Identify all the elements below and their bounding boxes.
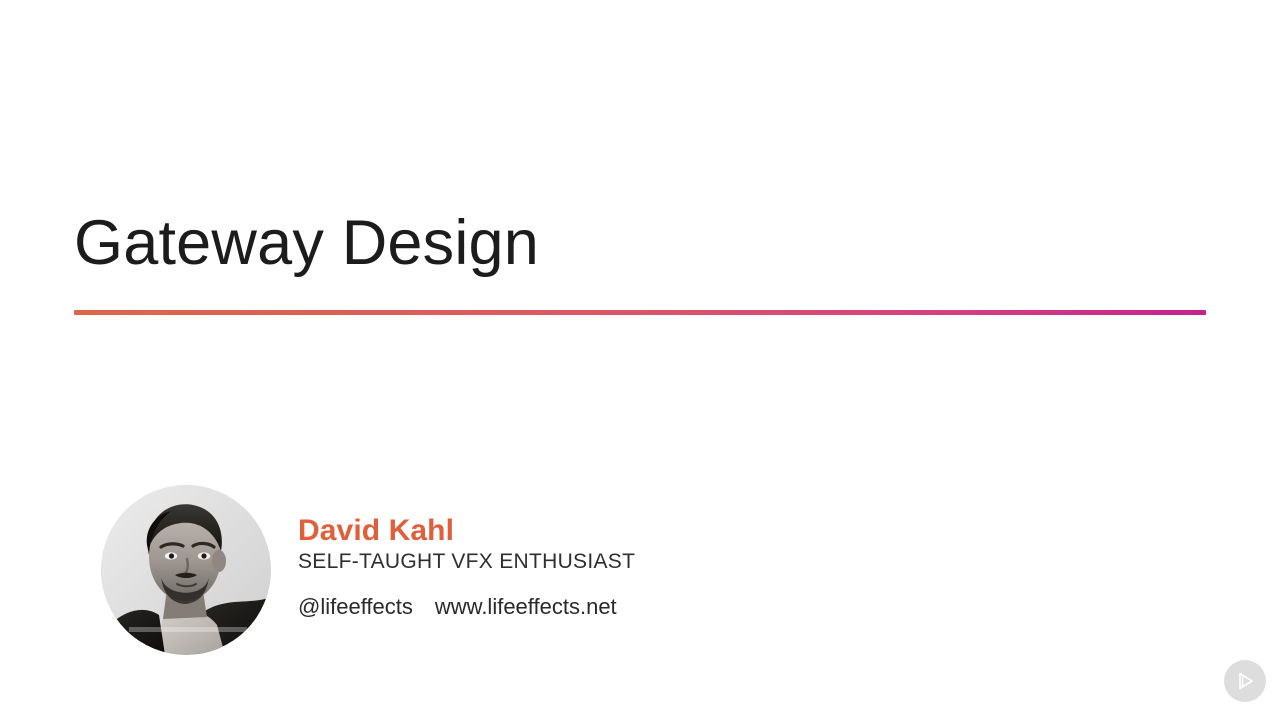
- author-role: SELF-TAUGHT VFX ENTHUSIAST: [298, 550, 635, 574]
- author-block: David Kahl SELF-TAUGHT VFX ENTHUSIAST @l…: [101, 485, 635, 655]
- play-triangle-icon: [1233, 669, 1257, 693]
- author-text-block: David Kahl SELF-TAUGHT VFX ENTHUSIAST @l…: [298, 485, 635, 621]
- presentation-slide: Gateway Design: [0, 0, 1280, 720]
- page-title: Gateway Design: [74, 208, 1206, 279]
- title-block: Gateway Design: [74, 208, 1206, 279]
- avatar: [101, 485, 271, 655]
- title-gradient-divider: [74, 310, 1206, 315]
- author-name: David Kahl: [298, 514, 635, 547]
- author-website: www.lifeeffects.net: [435, 594, 617, 620]
- watermark-badge: [1224, 660, 1266, 702]
- author-links: @lifeeffects www.lifeeffects.net: [298, 594, 635, 620]
- author-social-handle: @lifeeffects: [298, 594, 413, 620]
